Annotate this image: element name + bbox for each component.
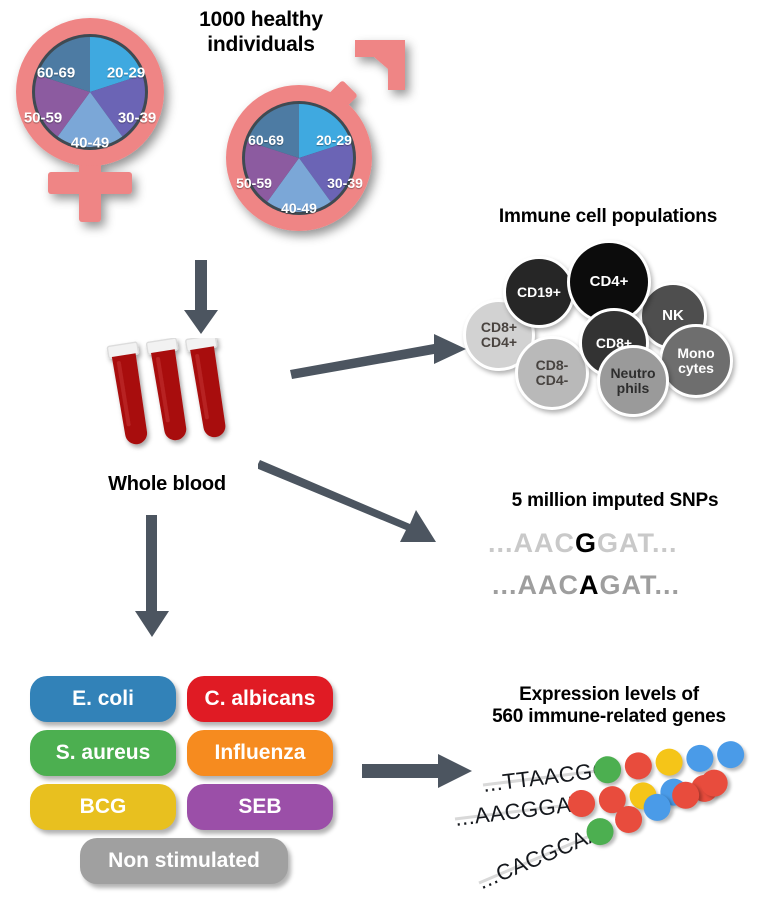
diagram-canvas: 1000 healthy individuals xyxy=(0,0,771,922)
stimulus-non-stimulated[interactable]: Non stimulated xyxy=(80,838,288,884)
immune-title: Immune cell populations xyxy=(458,206,758,228)
male-symbol-graphic xyxy=(205,30,420,245)
arrow-cohort-to-blood xyxy=(178,260,224,336)
expression-strand-2-sequence: ...AACGGAT xyxy=(453,790,584,832)
expression-bead xyxy=(623,751,653,781)
immune-cell-cluster: CD8+ CD4+ CD8- CD4- CD19+ CD4+ CD8+ NK N… xyxy=(463,240,753,410)
snps-row-allele-1: ...AACGGAT... xyxy=(488,528,678,559)
female-symbol: 20-29 30-39 40-49 50-59 60-69 xyxy=(8,14,193,234)
stimuli-panel: E. coli C. albicans S. aureus Influenza … xyxy=(30,676,340,896)
expression-bead xyxy=(654,747,684,777)
snps-sequences: ...AACGGAT... ...AACAGAT... xyxy=(478,528,748,624)
snps-title: 5 million imputed SNPs xyxy=(470,490,760,512)
snps-row-2-suffix: GAT... xyxy=(600,570,681,600)
stimulus-seb[interactable]: SEB xyxy=(187,784,333,830)
male-symbol: 20-29 30-39 40-49 50-59 60-69 xyxy=(205,30,420,245)
immune-cell-neutrophils: Neutro phils xyxy=(597,345,669,417)
stimulus-c-albicans[interactable]: C. albicans xyxy=(187,676,333,722)
stimulus-e-coli[interactable]: E. coli xyxy=(30,676,176,722)
expression-bead xyxy=(668,778,703,813)
arrow-blood-to-stimuli xyxy=(128,515,176,640)
arrow-blood-to-snps xyxy=(258,452,446,552)
snps-row-2-highlight: A xyxy=(579,570,600,600)
expression-bead xyxy=(639,790,674,825)
expression-bead xyxy=(611,802,646,837)
immune-cell-monocytes: Mono cytes xyxy=(659,324,733,398)
immune-cell-cd19p: CD19+ xyxy=(503,256,575,328)
snps-row-1-prefix: ...AAC xyxy=(488,528,575,558)
snps-row-1-highlight: G xyxy=(575,528,597,558)
stimulus-influenza[interactable]: Influenza xyxy=(187,730,333,776)
expression-strands: ...TTAACGG ...AACGGAT ...CACGCAA xyxy=(455,742,771,918)
whole-blood-label: Whole blood xyxy=(82,473,252,497)
arrow-blood-to-immune xyxy=(288,322,470,384)
stimulus-bcg[interactable]: BCG xyxy=(30,784,176,830)
snps-row-1-suffix: GAT... xyxy=(597,528,678,558)
blood-tubes-graphic xyxy=(105,338,235,453)
female-symbol-graphic xyxy=(8,14,193,234)
snps-row-2-prefix: ...AAC xyxy=(492,570,579,600)
snps-row-allele-2: ...AACAGAT... xyxy=(492,570,680,601)
stimulus-s-aureus[interactable]: S. aureus xyxy=(30,730,176,776)
whole-blood-tubes xyxy=(105,338,235,453)
immune-cell-cd8n-cd4n: CD8- CD4- xyxy=(515,336,589,410)
expression-title: Expression levels of 560 immune-related … xyxy=(450,684,768,729)
